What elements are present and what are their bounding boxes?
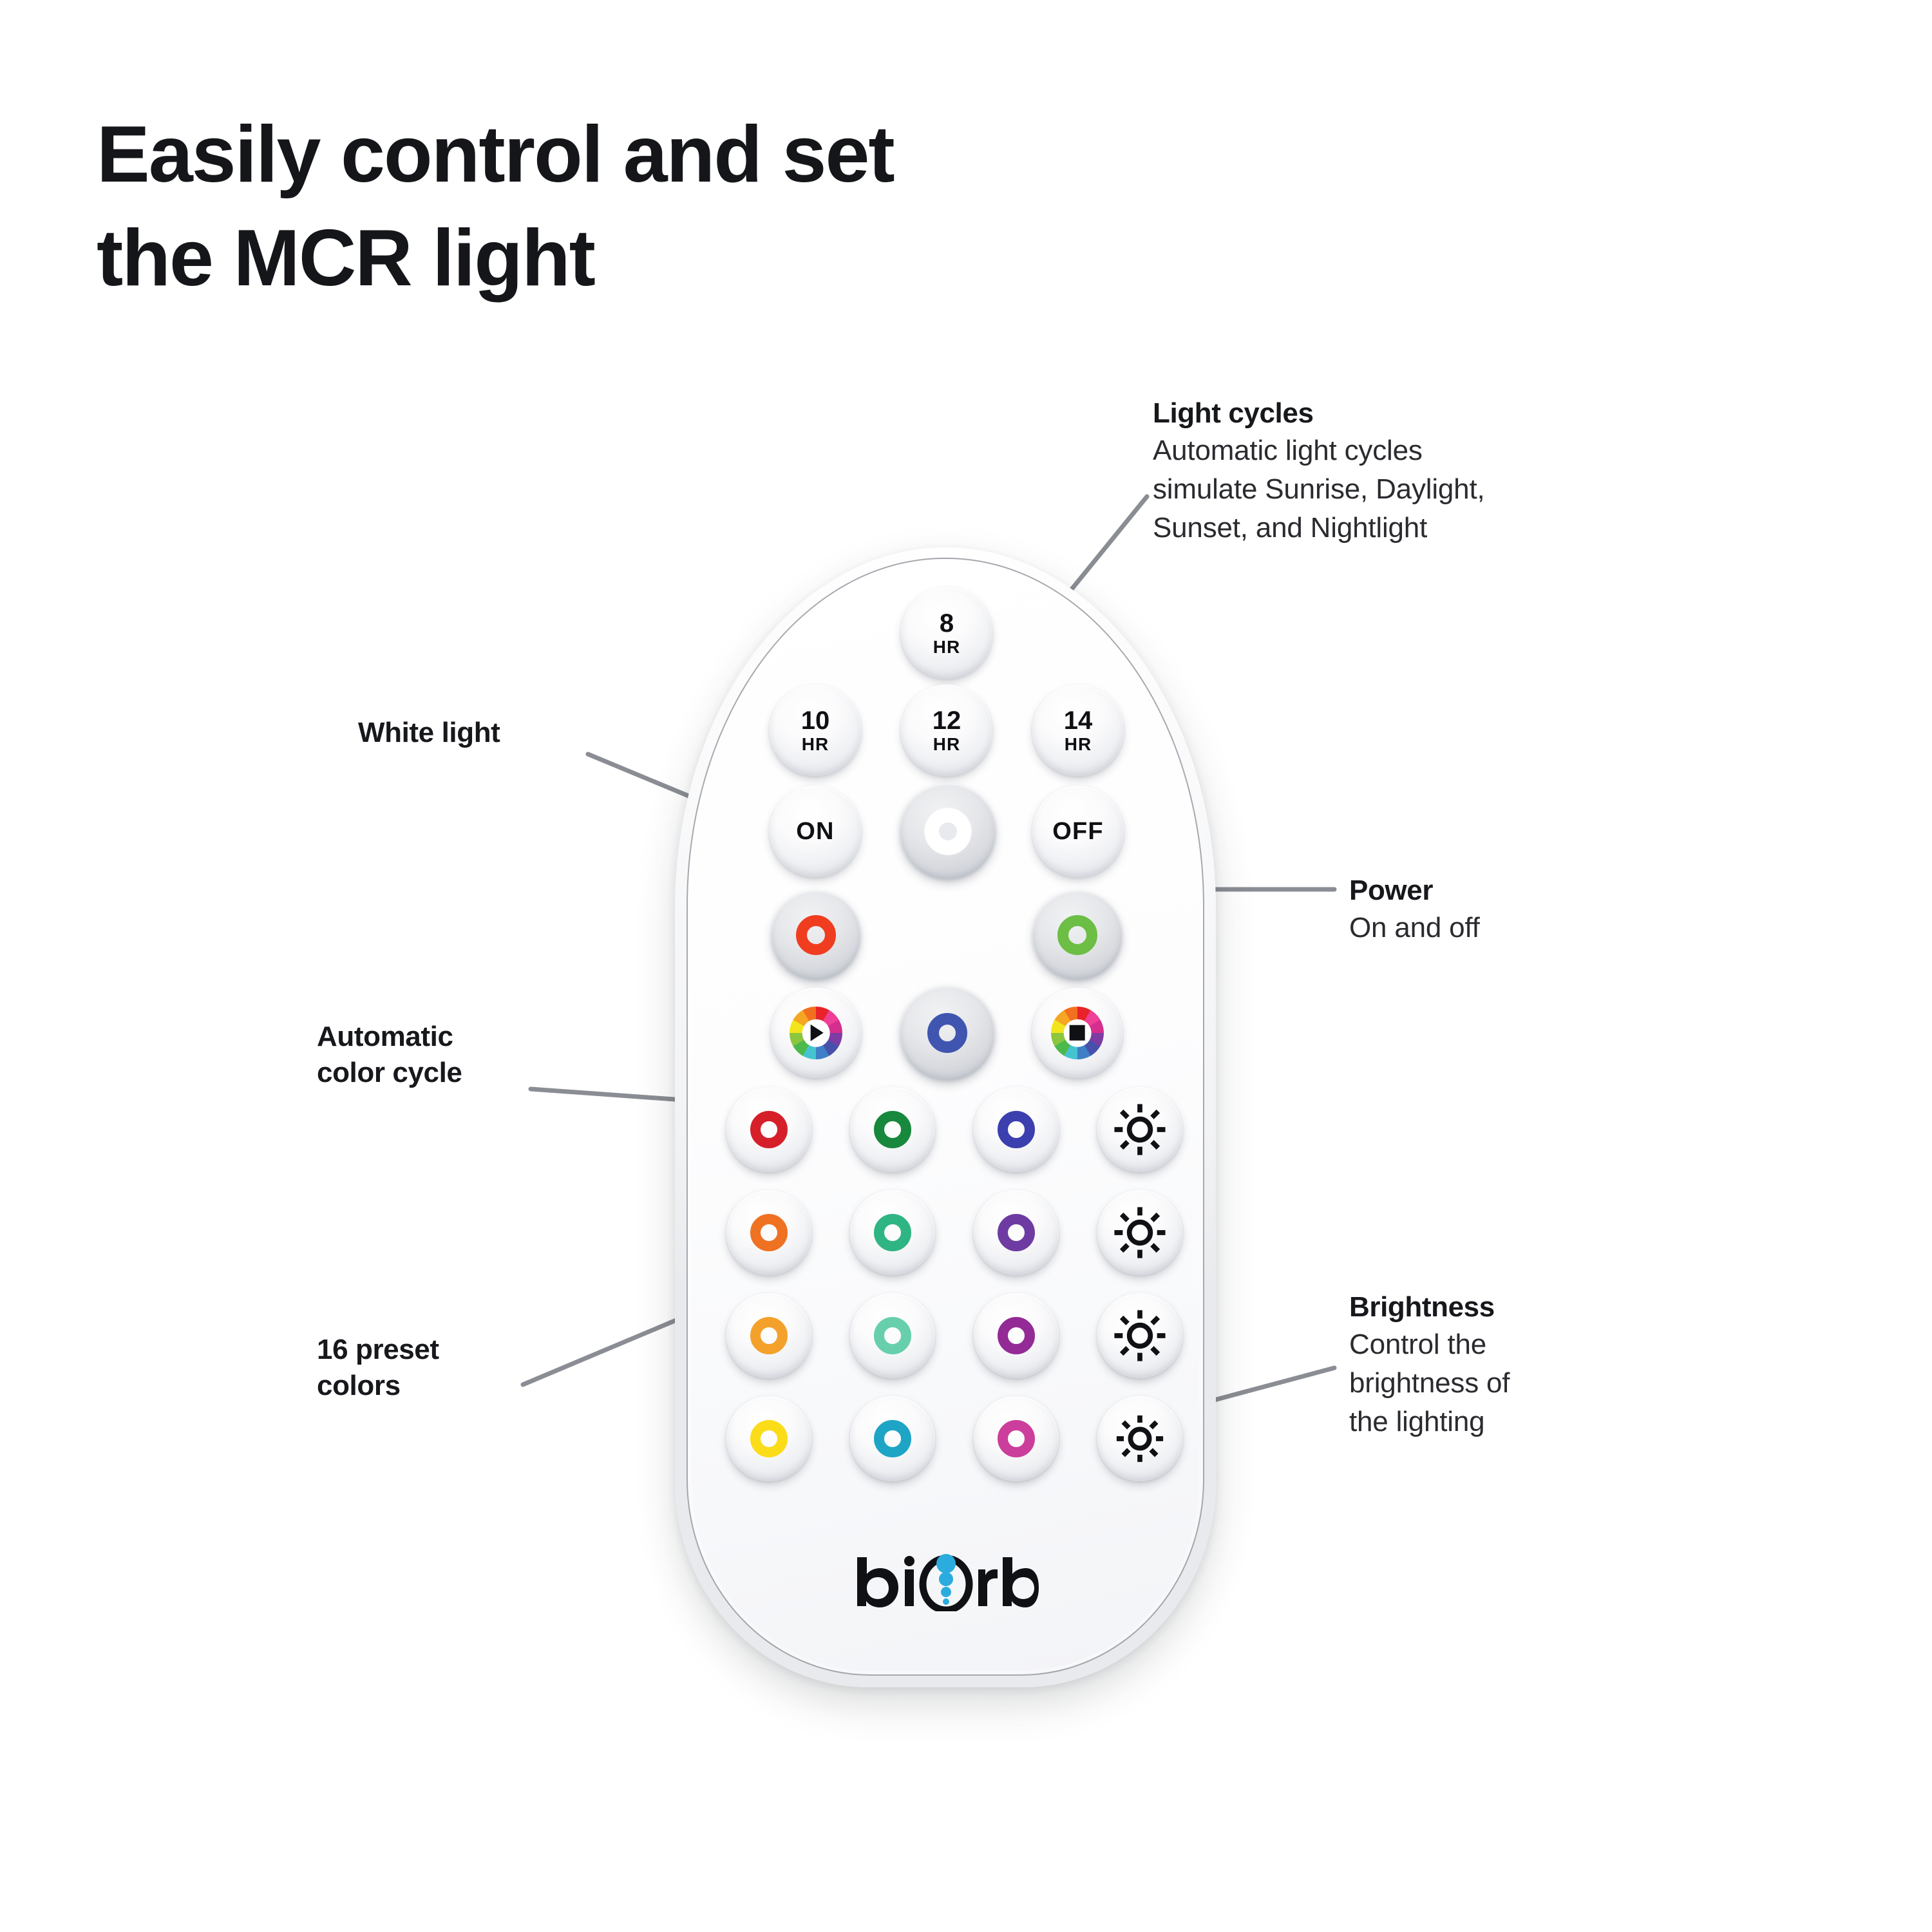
- annotation-title: Brightness: [1349, 1289, 1710, 1325]
- preset-color-button[interactable]: [974, 1396, 1059, 1481]
- on-label: ON: [796, 819, 834, 844]
- ring-icon: [750, 1111, 788, 1148]
- color-cycle-play-button[interactable]: [771, 988, 861, 1078]
- ring-icon: [998, 1214, 1035, 1251]
- annotation-title: 16 preset colors: [317, 1332, 677, 1405]
- timer-button-8hr[interactable]: 8 HR: [901, 587, 992, 679]
- preset-color-button[interactable]: [726, 1293, 811, 1378]
- color-wheel-play-icon: [790, 1007, 842, 1059]
- preset-color-button[interactable]: [974, 1190, 1059, 1275]
- annotation-power: Power On and off: [1349, 873, 1710, 947]
- annotation-body: Control the brightness of the lighting: [1349, 1325, 1710, 1441]
- ring-icon: [874, 1214, 911, 1251]
- annotation-title: Power: [1349, 873, 1710, 909]
- ring-icon: [874, 1111, 911, 1148]
- timer-label: 14 HR: [1064, 708, 1093, 753]
- timer-label: 10 HR: [801, 708, 830, 753]
- annotation-title: Automatic color cycle: [317, 1019, 677, 1092]
- off-button[interactable]: OFF: [1032, 786, 1124, 877]
- white-light-button[interactable]: [900, 783, 996, 880]
- brightness-button[interactable]: [1097, 1396, 1182, 1481]
- mcr-remote-control: 8 HR 10 HR 12 HR 14 HR: [675, 547, 1216, 1687]
- preset-color-button[interactable]: [850, 1190, 935, 1275]
- brightness-icon: [1112, 1411, 1168, 1466]
- annotation-white-light: White light: [358, 715, 693, 751]
- preset-color-button[interactable]: [726, 1190, 811, 1275]
- annotation-body: On and off: [1349, 909, 1710, 947]
- preset-color-button[interactable]: [726, 1087, 811, 1172]
- annotation-brightness: Brightness Control the brightness of the…: [1349, 1289, 1710, 1441]
- preset-color-button[interactable]: [726, 1396, 811, 1481]
- ring-icon: [927, 1013, 967, 1053]
- ring-icon: [750, 1214, 788, 1251]
- brightness-button[interactable]: [1097, 1190, 1182, 1275]
- preset-color-button[interactable]: [974, 1087, 1059, 1172]
- ring-icon: [998, 1420, 1035, 1457]
- preset-color-button[interactable]: [974, 1293, 1059, 1378]
- preset-color-button[interactable]: [850, 1087, 935, 1172]
- timer-button-12hr[interactable]: 12 HR: [901, 685, 992, 776]
- ring-icon: [750, 1317, 788, 1354]
- ring-icon: [750, 1420, 788, 1457]
- ring-icon: [998, 1317, 1035, 1354]
- color-cycle-stop-button[interactable]: [1032, 988, 1122, 1078]
- annotation-auto-color-cycle: Automatic color cycle: [317, 1019, 677, 1092]
- preset-color-button[interactable]: [850, 1293, 935, 1378]
- brightness-icon: [1112, 1205, 1168, 1260]
- ring-icon: [796, 915, 836, 955]
- brightness-button[interactable]: [1097, 1087, 1182, 1172]
- brightness-icon: [1112, 1102, 1168, 1157]
- annotation-preset-colors: 16 preset colors: [317, 1332, 677, 1405]
- brightness-button[interactable]: [1097, 1293, 1182, 1378]
- power-ring-icon: [924, 808, 972, 855]
- timer-button-14hr[interactable]: 14 HR: [1032, 685, 1124, 776]
- biorb-logo: [852, 1552, 1039, 1611]
- on-button[interactable]: ON: [770, 786, 861, 877]
- blue-channel-button[interactable]: [900, 985, 995, 1081]
- color-wheel-stop-icon: [1051, 1007, 1104, 1059]
- green-channel-button[interactable]: [1032, 890, 1122, 980]
- preset-color-button[interactable]: [850, 1396, 935, 1481]
- remote-face: 8 HR 10 HR 12 HR 14 HR: [692, 563, 1199, 1671]
- annotation-body: Automatic light cycles simulate Sunrise,…: [1153, 431, 1668, 547]
- page-title: Easily control and set the MCR light: [97, 103, 894, 310]
- ring-icon: [1057, 915, 1097, 955]
- off-label: OFF: [1052, 819, 1104, 844]
- poster-canvas: Easily control and set the MCR light Lig…: [0, 0, 1932, 1932]
- timer-label: 12 HR: [933, 708, 961, 753]
- ring-icon: [874, 1317, 911, 1354]
- ring-icon: [998, 1111, 1035, 1148]
- brightness-icon: [1112, 1308, 1168, 1363]
- timer-button-10hr[interactable]: 10 HR: [770, 685, 861, 776]
- ring-icon: [874, 1420, 911, 1457]
- red-channel-button[interactable]: [771, 890, 861, 980]
- annotation-title: Light cycles: [1153, 395, 1668, 431]
- timer-label: 8 HR: [933, 611, 960, 656]
- annotation-light-cycles: Light cycles Automatic light cycles simu…: [1153, 395, 1668, 547]
- annotation-title: White light: [358, 715, 693, 751]
